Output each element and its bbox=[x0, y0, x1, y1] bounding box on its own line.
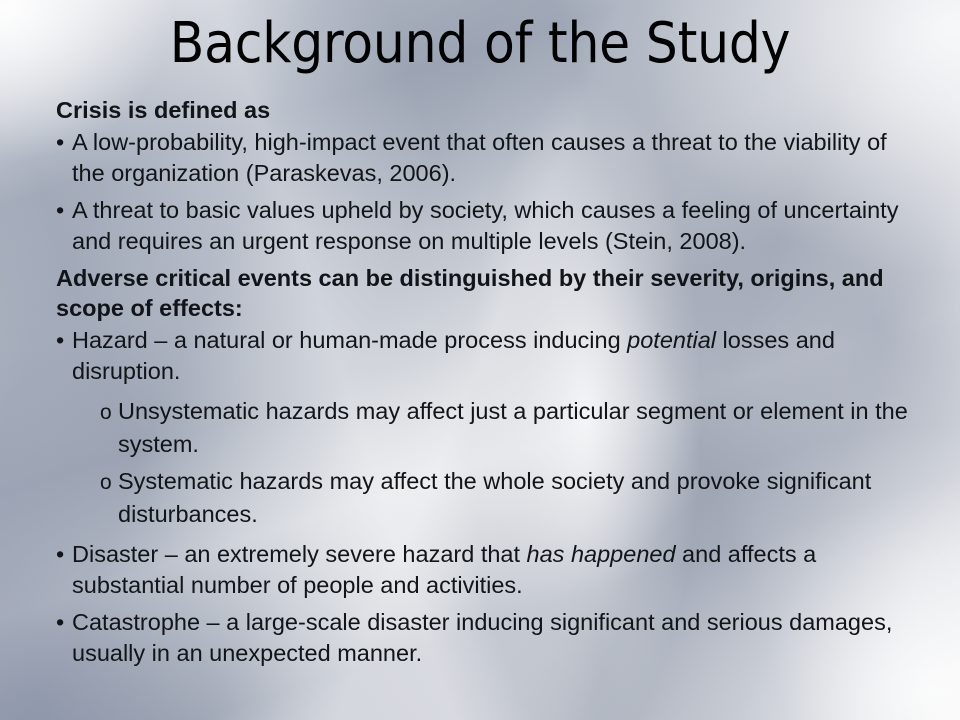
slide-content: Background of the Study Crisis is define… bbox=[0, 0, 960, 720]
bullet-text-emphasis: has happened bbox=[527, 541, 676, 567]
bullet-text-pre: Disaster – an extremely severe hazard th… bbox=[72, 541, 527, 567]
bullet-text: Catastrophe – a large-scale disaster ind… bbox=[72, 609, 892, 666]
bullet-marker-icon: • bbox=[56, 539, 72, 570]
subbullet-marker-icon: o bbox=[100, 468, 118, 499]
section-heading-adverse-events: Adverse critical events can be distingui… bbox=[56, 263, 924, 323]
bullet-text-emphasis: potential bbox=[627, 327, 716, 353]
bullet-text-pre: Hazard – a natural or human-made process… bbox=[72, 327, 627, 353]
subbullet-text: Unsystematic hazards may affect just a p… bbox=[118, 398, 908, 457]
bullet-text: A threat to basic values upheld by socie… bbox=[72, 197, 898, 254]
bullet-hazard: •Hazard – a natural or human-made proces… bbox=[56, 325, 924, 386]
slide-body: Crisis is defined as •A low-probability,… bbox=[56, 95, 924, 671]
bullet-catastrophe: •Catastrophe – a large-scale disaster in… bbox=[56, 607, 924, 668]
spacer bbox=[56, 389, 924, 396]
bullet-marker-icon: • bbox=[56, 195, 72, 226]
section-heading-crisis: Crisis is defined as bbox=[56, 95, 924, 125]
subbullet-systematic-hazards: oSystematic hazards may affect the whole… bbox=[56, 466, 924, 529]
subbullet-text: Systematic hazards may affect the whole … bbox=[118, 468, 871, 527]
subbullet-marker-icon: o bbox=[100, 398, 118, 429]
bullet-marker-icon: • bbox=[56, 127, 72, 158]
bullet-marker-icon: • bbox=[56, 607, 72, 638]
bullet-crisis-definition-1: •A low-probability, high-impact event th… bbox=[56, 127, 924, 188]
bullet-marker-icon: • bbox=[56, 325, 72, 356]
bullet-text: A low-probability, high-impact event tha… bbox=[72, 129, 887, 186]
slide-canvas: Background of the Study Crisis is define… bbox=[0, 0, 960, 720]
slide-title: Background of the Study bbox=[0, 12, 960, 76]
spacer bbox=[56, 532, 924, 539]
bullet-crisis-definition-2: •A threat to basic values upheld by soci… bbox=[56, 195, 924, 256]
bullet-disaster: •Disaster – an extremely severe hazard t… bbox=[56, 539, 924, 600]
subbullet-unsystematic-hazards: oUnsystematic hazards may affect just a … bbox=[56, 396, 924, 459]
